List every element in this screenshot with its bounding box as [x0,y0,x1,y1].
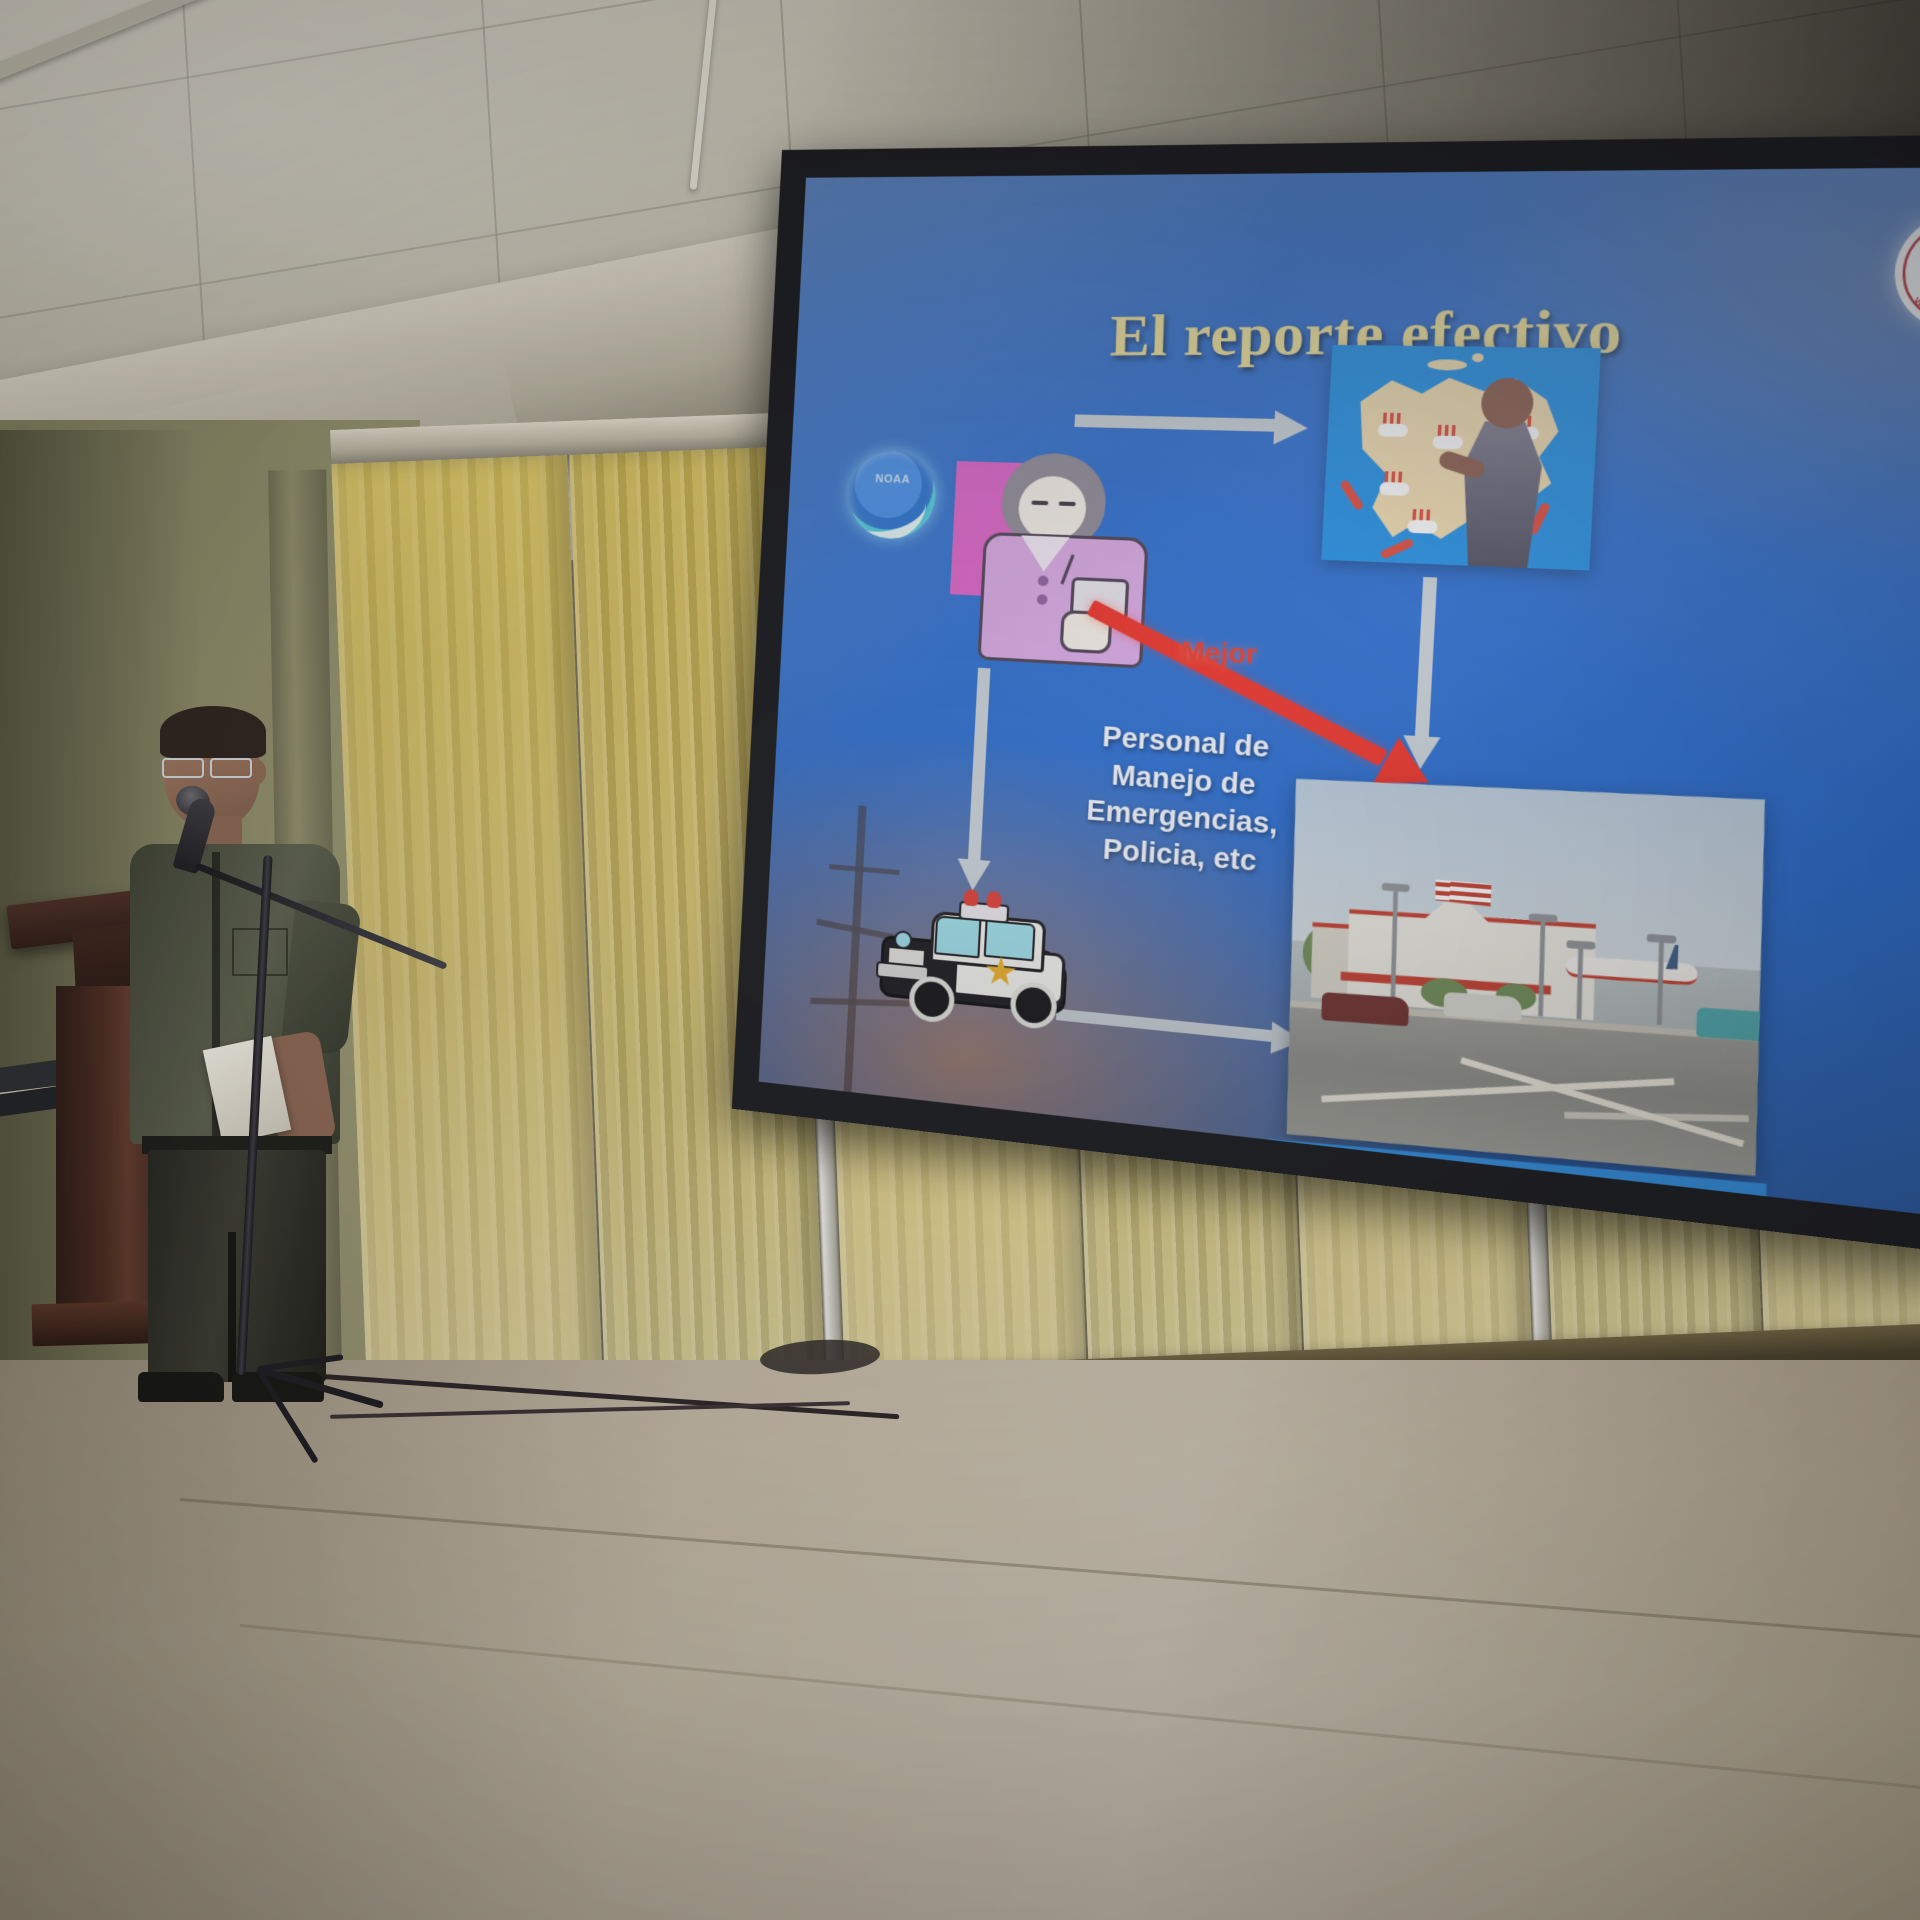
mejor-label: Mejor [1180,635,1257,671]
slide: El reporte efectivo NOAA [759,166,1920,1228]
arrow-caller-to-tv-head [1273,410,1308,445]
arrow-tv-to-photo [1415,577,1437,741]
police-car-windshield [934,915,981,958]
nws-logo-text: N A T I O N A L W E A T H [1892,211,1920,333]
presenter-leg-gap [228,1232,236,1382]
caller-eye-right [1059,501,1076,506]
noaa-gull-icon [854,482,929,540]
weather-presenter-figure [1454,377,1551,568]
presenter [120,712,380,1402]
arrow-police-to-photo [1056,1009,1274,1043]
screen-surface: El reporte efectivo NOAA [759,166,1920,1228]
weather-presenter-body [1459,421,1544,568]
nws-office-photo [1287,779,1765,1176]
arrow-caller-to-tv [1074,414,1277,431]
photo-street-lamp-4 [1657,941,1664,1025]
arrow-caller-to-police-head [956,858,991,892]
weather-map-islet-2 [1472,353,1484,362]
weather-icon-sun-cloud-2 [1432,425,1464,454]
weather-presenter-head [1480,377,1535,429]
screen-frame: El reporte efectivo NOAA [732,133,1920,1266]
arrow-caller-to-police [968,668,991,864]
presenter-sleeve [280,899,361,1055]
presenter-shoe-left [138,1372,224,1402]
police-car-red-light-1 [964,889,979,907]
police-car-clipart [874,894,1072,1032]
caller-eye-left [1031,501,1048,506]
projection-screen: El reporte efectivo NOAA [732,150,1920,1169]
nws-logo: N A T I O N A L W E A T H [1892,211,1920,333]
emergency-personnel-text: Personal de Manejo de Emergencias, Polic… [1049,716,1319,885]
presenter-glasses [162,758,266,774]
noaa-logo: NOAA [847,450,938,540]
weather-presenter-clipart [1321,345,1601,571]
presenter-hair [160,706,266,758]
floor-reflection [0,1360,1920,1920]
weather-icon-sun-cloud-4 [1407,509,1439,538]
weather-icon-sun-cloud-3 [1379,471,1410,500]
police-car-side-window [984,920,1036,962]
weather-icon-streak-bottom [1379,538,1414,560]
weather-map-islet-1 [1427,359,1467,370]
photo-car-teal [1696,1007,1765,1042]
police-car-red-light-2 [986,891,1001,909]
weather-icon-sun-cloud-1 [1377,413,1408,442]
presentation-room-photo: El reporte efectivo NOAA [0,0,1920,1920]
weather-icon-streak-left [1339,479,1364,511]
